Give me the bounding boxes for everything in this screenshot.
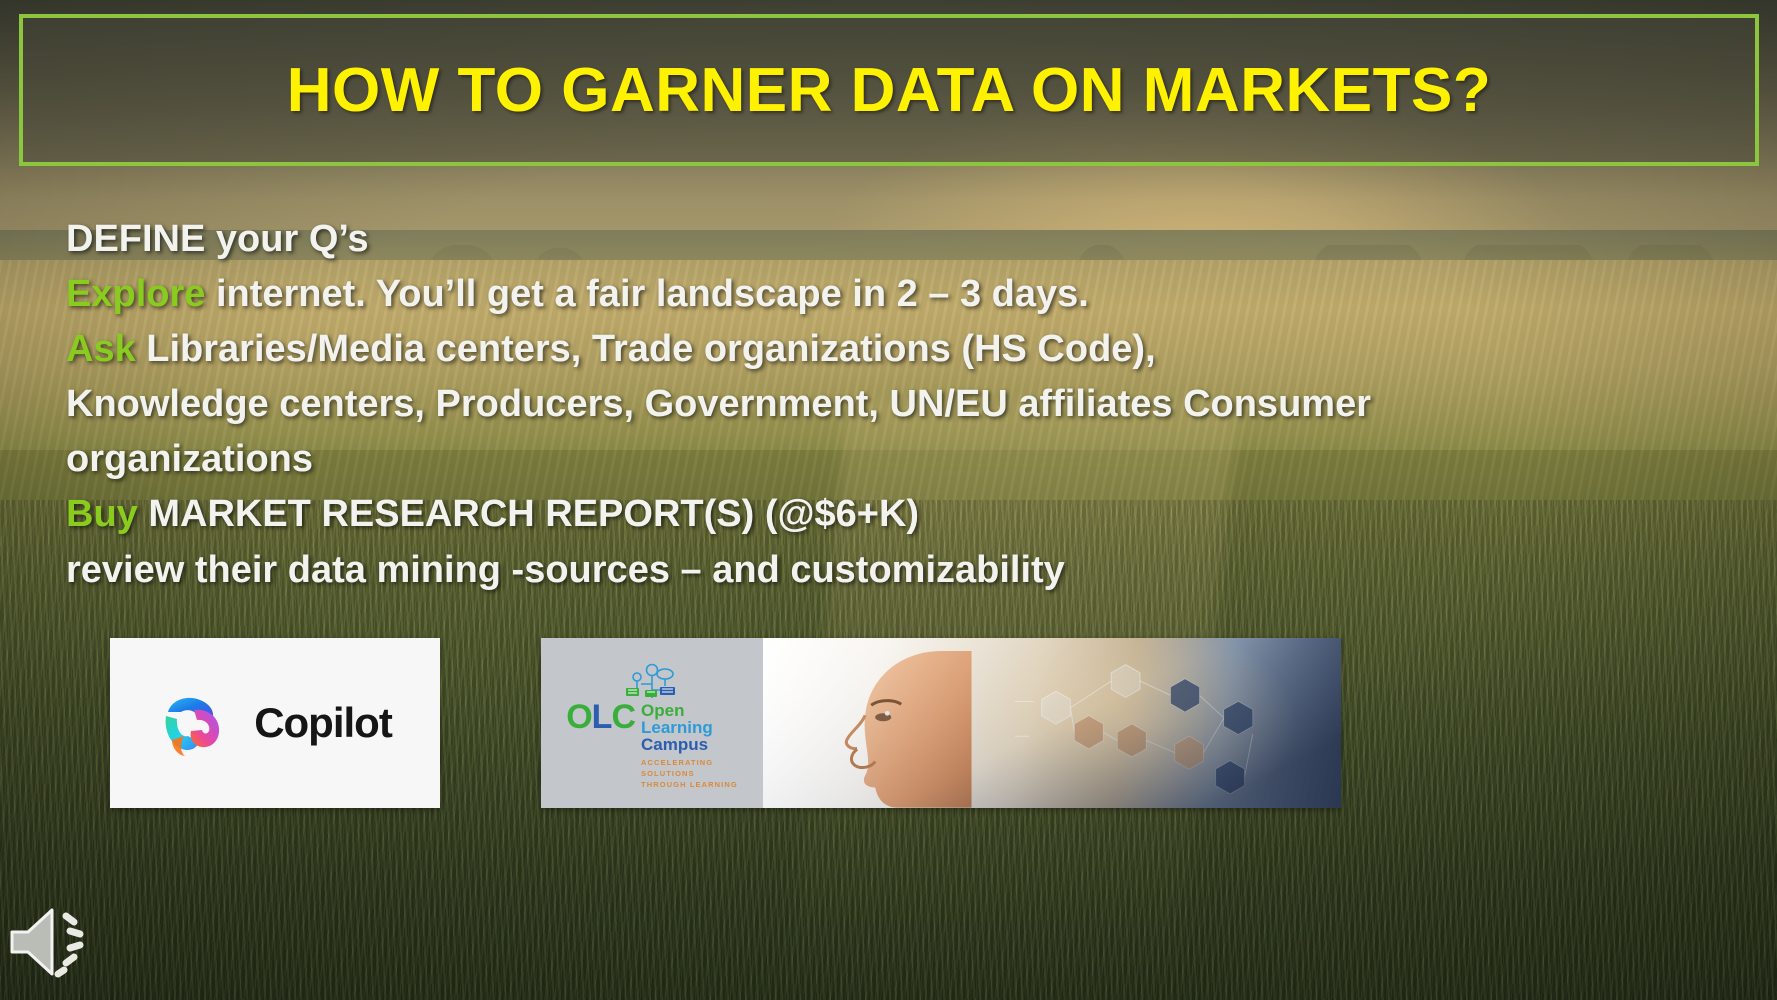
page-title: HOW TO GARNER DATA ON MARKETS?: [287, 55, 1491, 126]
olc-tagline-line-3: THROUGH LEARNING: [641, 779, 738, 790]
olc-initial-l: L: [592, 702, 612, 733]
copilot-logo-card[interactable]: Copilot: [110, 638, 440, 808]
line-keyword: DEFINE: [66, 218, 205, 260]
line-text: internet. You’ll get a fair landscape in…: [205, 273, 1088, 315]
olc-word-learning: Learning: [641, 719, 738, 736]
copilot-wordmark: Copilot: [254, 699, 392, 747]
olc-initial-c: C: [611, 702, 635, 733]
line-text: your Q’s: [205, 218, 368, 260]
olc-tree-icon: [621, 662, 683, 702]
body-line: organizations: [66, 432, 1726, 487]
body-text-block: DEFINE your Q’s Explore internet. You’ll…: [66, 212, 1726, 598]
olc-initial-o: O: [566, 702, 591, 733]
olc-logo: O L C Open Learning Campus ACCELERATING …: [566, 702, 738, 791]
speaker-audio-icon[interactable]: [8, 900, 118, 984]
olc-hero-image: [763, 638, 1341, 808]
olc-word-campus: Campus: [641, 736, 738, 753]
copilot-ribbon-icon: [158, 686, 232, 760]
body-line: review their data mining -sources – and …: [66, 543, 1726, 598]
line-text: MARKET RESEARCH REPORT(S) (@$6+K): [138, 493, 919, 535]
olc-tagline-line-2: SOLUTIONS: [641, 768, 738, 779]
olc-wordmark: Open Learning Campus ACCELERATING SOLUTI…: [641, 702, 738, 791]
title-box: HOW TO GARNER DATA ON MARKETS?: [19, 14, 1759, 166]
body-line: Explore internet. You’ll get a fair land…: [66, 267, 1726, 322]
hero-dark-wash: [763, 638, 1341, 808]
olc-banner[interactable]: O L C Open Learning Campus ACCELERATING …: [541, 638, 1341, 808]
olc-tagline-line-1: ACCELERATING: [641, 757, 738, 768]
body-line: Knowledge centers, Producers, Government…: [66, 377, 1726, 432]
line-keyword: Buy: [66, 493, 138, 535]
body-line: Buy MARKET RESEARCH REPORT(S) (@$6+K): [66, 487, 1726, 542]
line-text: review their data mining -sources – and …: [66, 549, 1065, 591]
line-text: organizations: [66, 438, 313, 480]
olc-initials: O L C: [566, 702, 635, 733]
body-line: DEFINE your Q’s: [66, 212, 1726, 267]
line-text: Knowledge centers, Producers, Government…: [66, 383, 1371, 425]
olc-logo-panel: O L C Open Learning Campus ACCELERATING …: [541, 638, 763, 808]
line-keyword: Explore: [66, 273, 205, 315]
line-keyword: Ask: [66, 328, 136, 370]
olc-tagline: ACCELERATING SOLUTIONS THROUGH LEARNING: [641, 757, 738, 791]
olc-word-open: Open: [641, 702, 738, 719]
line-text: Libraries/Media centers, Trade organizat…: [136, 328, 1156, 370]
slide: HOW TO GARNER DATA ON MARKETS? DEFINE yo…: [0, 0, 1777, 1000]
body-line: Ask Libraries/Media centers, Trade organ…: [66, 322, 1726, 377]
